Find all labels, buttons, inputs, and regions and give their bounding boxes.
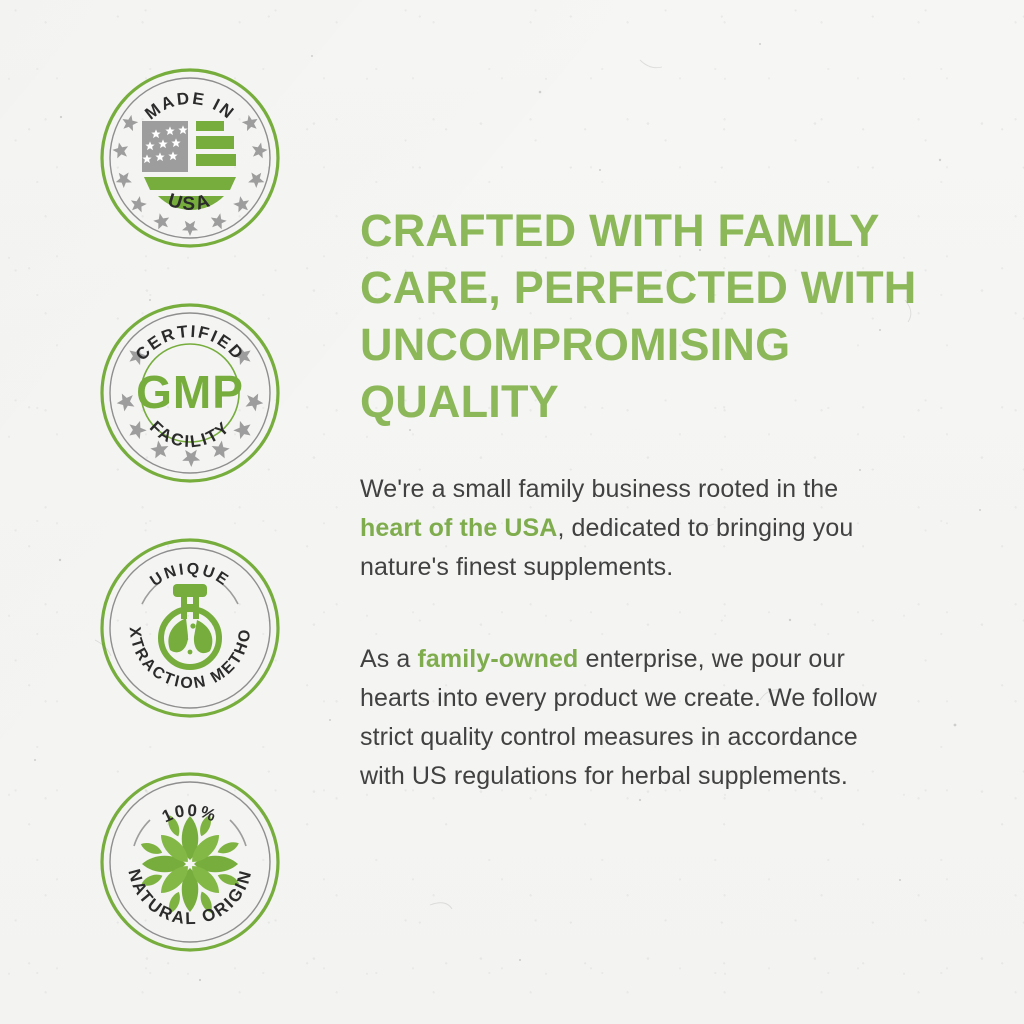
intro-highlight: heart of the USA bbox=[360, 514, 557, 542]
intro-text-before: We're a small family business rooted in … bbox=[360, 475, 838, 503]
trust-badge-column: MADE IN USA bbox=[0, 0, 340, 1024]
decor-arc-right bbox=[230, 820, 246, 846]
badge-unique-extraction-method: UNIQUE EXTRACTION METHOD bbox=[100, 538, 280, 718]
badge-top-label: MADE IN bbox=[141, 89, 238, 124]
decor-arc-left bbox=[134, 820, 150, 846]
badge-top-label: CERTIFIED bbox=[132, 322, 248, 364]
content-column: CRAFTED WITH FAMILY CARE, PERFECTED WITH… bbox=[360, 0, 960, 1024]
badge-bottom-label: USA bbox=[165, 190, 214, 215]
intro-paragraph: We're a small family business rooted in … bbox=[360, 470, 890, 587]
page-title: CRAFTED WITH FAMILY CARE, PERFECTED WITH… bbox=[360, 202, 920, 430]
badge-made-in-usa: MADE IN USA bbox=[100, 68, 280, 248]
promo-page: MADE IN USA bbox=[0, 0, 1024, 1024]
detail-text-before: As a bbox=[360, 645, 417, 673]
star-ring bbox=[112, 112, 269, 236]
detail-paragraph: As a family-owned enterprise, we pour ou… bbox=[360, 640, 890, 796]
detail-highlight: family-owned bbox=[417, 645, 578, 673]
badge-gmp-certified: GMP CERTIFIED FACILITY bbox=[100, 303, 280, 483]
gmp-seal-icon: GMP bbox=[136, 366, 244, 418]
flask-leaf-icon bbox=[161, 584, 219, 667]
badge-natural-origin: 100% NATURAL ORIGIN bbox=[100, 772, 280, 952]
